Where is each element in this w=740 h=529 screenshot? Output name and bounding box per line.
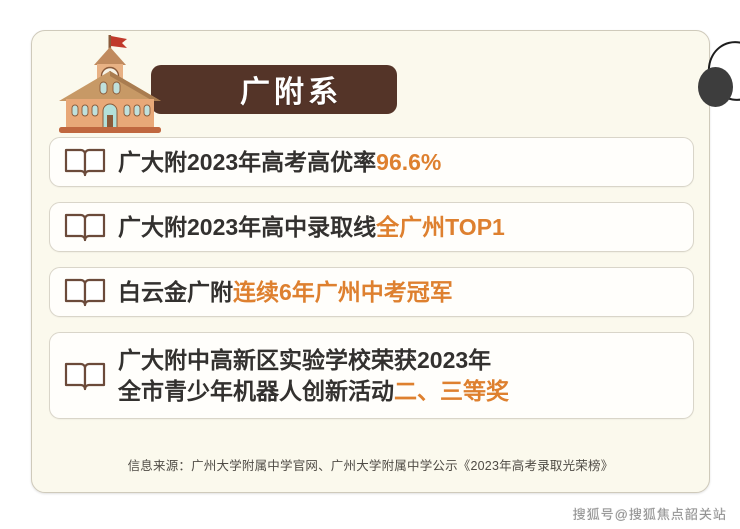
info-row-list: 广大附2023年高考高优率96.6% 广大附2023年高中录取线全广州TOP1 bbox=[49, 137, 694, 434]
row-text-highlight: 连续6年广州中考冠军 bbox=[233, 279, 453, 305]
info-row[interactable]: 广大附2023年高考高优率96.6% bbox=[49, 137, 694, 187]
info-row-text: 广大附2023年高考高优率96.6% bbox=[118, 147, 441, 177]
row-text-highlight: 96.6% bbox=[376, 149, 441, 175]
title-banner: 广附系 bbox=[151, 65, 397, 114]
row-text-segment: 广大附2023年高考高优率 bbox=[118, 149, 376, 175]
ring-bead-icon bbox=[698, 67, 733, 107]
open-book-icon bbox=[62, 275, 108, 309]
school-building-icon bbox=[49, 29, 173, 139]
row-text-segment: 广大附中高新区实验学校荣获2023年 bbox=[118, 347, 491, 373]
row-text-segment: 全市青少年机器人创新活动 bbox=[118, 378, 394, 404]
ring-outline-icon bbox=[702, 35, 740, 107]
header: 广附系 bbox=[32, 31, 709, 143]
info-row-text: 白云金广附连续6年广州中考冠军 bbox=[118, 277, 453, 307]
row-text-highlight: 全广州TOP1 bbox=[376, 214, 505, 240]
info-row[interactable]: 白云金广附连续6年广州中考冠军 bbox=[49, 267, 694, 317]
open-book-icon bbox=[62, 210, 108, 244]
binder-ring-decoration bbox=[694, 39, 740, 115]
row-text-segment: 广大附2023年高中录取线 bbox=[118, 214, 376, 240]
page-title: 广附系 bbox=[151, 67, 397, 111]
info-row[interactable]: 广大附中高新区实验学校荣获2023年 全市青少年机器人创新活动二、三等奖 bbox=[49, 332, 694, 419]
source-note: 信息来源：广州大学附属中学官网、广州大学附属中学公示《2023年高考录取光荣榜》 bbox=[32, 455, 709, 474]
open-book-icon bbox=[62, 145, 108, 179]
watermark: 搜狐号@搜狐焦点韶关站 bbox=[573, 504, 727, 523]
info-row-line: 广大附中高新区实验学校荣获2023年 bbox=[118, 345, 509, 376]
info-row-text: 广大附2023年高中录取线全广州TOP1 bbox=[118, 212, 505, 242]
row-text-segment: 白云金广附 bbox=[118, 279, 233, 305]
open-book-icon bbox=[62, 359, 108, 393]
info-row[interactable]: 广大附2023年高中录取线全广州TOP1 bbox=[49, 202, 694, 252]
info-row-line: 全市青少年机器人创新活动二、三等奖 bbox=[118, 376, 509, 407]
row-text-highlight: 二、三等奖 bbox=[394, 378, 509, 404]
main-card: 广附系 bbox=[31, 30, 710, 493]
info-row-text: 广大附中高新区实验学校荣获2023年 全市青少年机器人创新活动二、三等奖 bbox=[118, 345, 509, 407]
